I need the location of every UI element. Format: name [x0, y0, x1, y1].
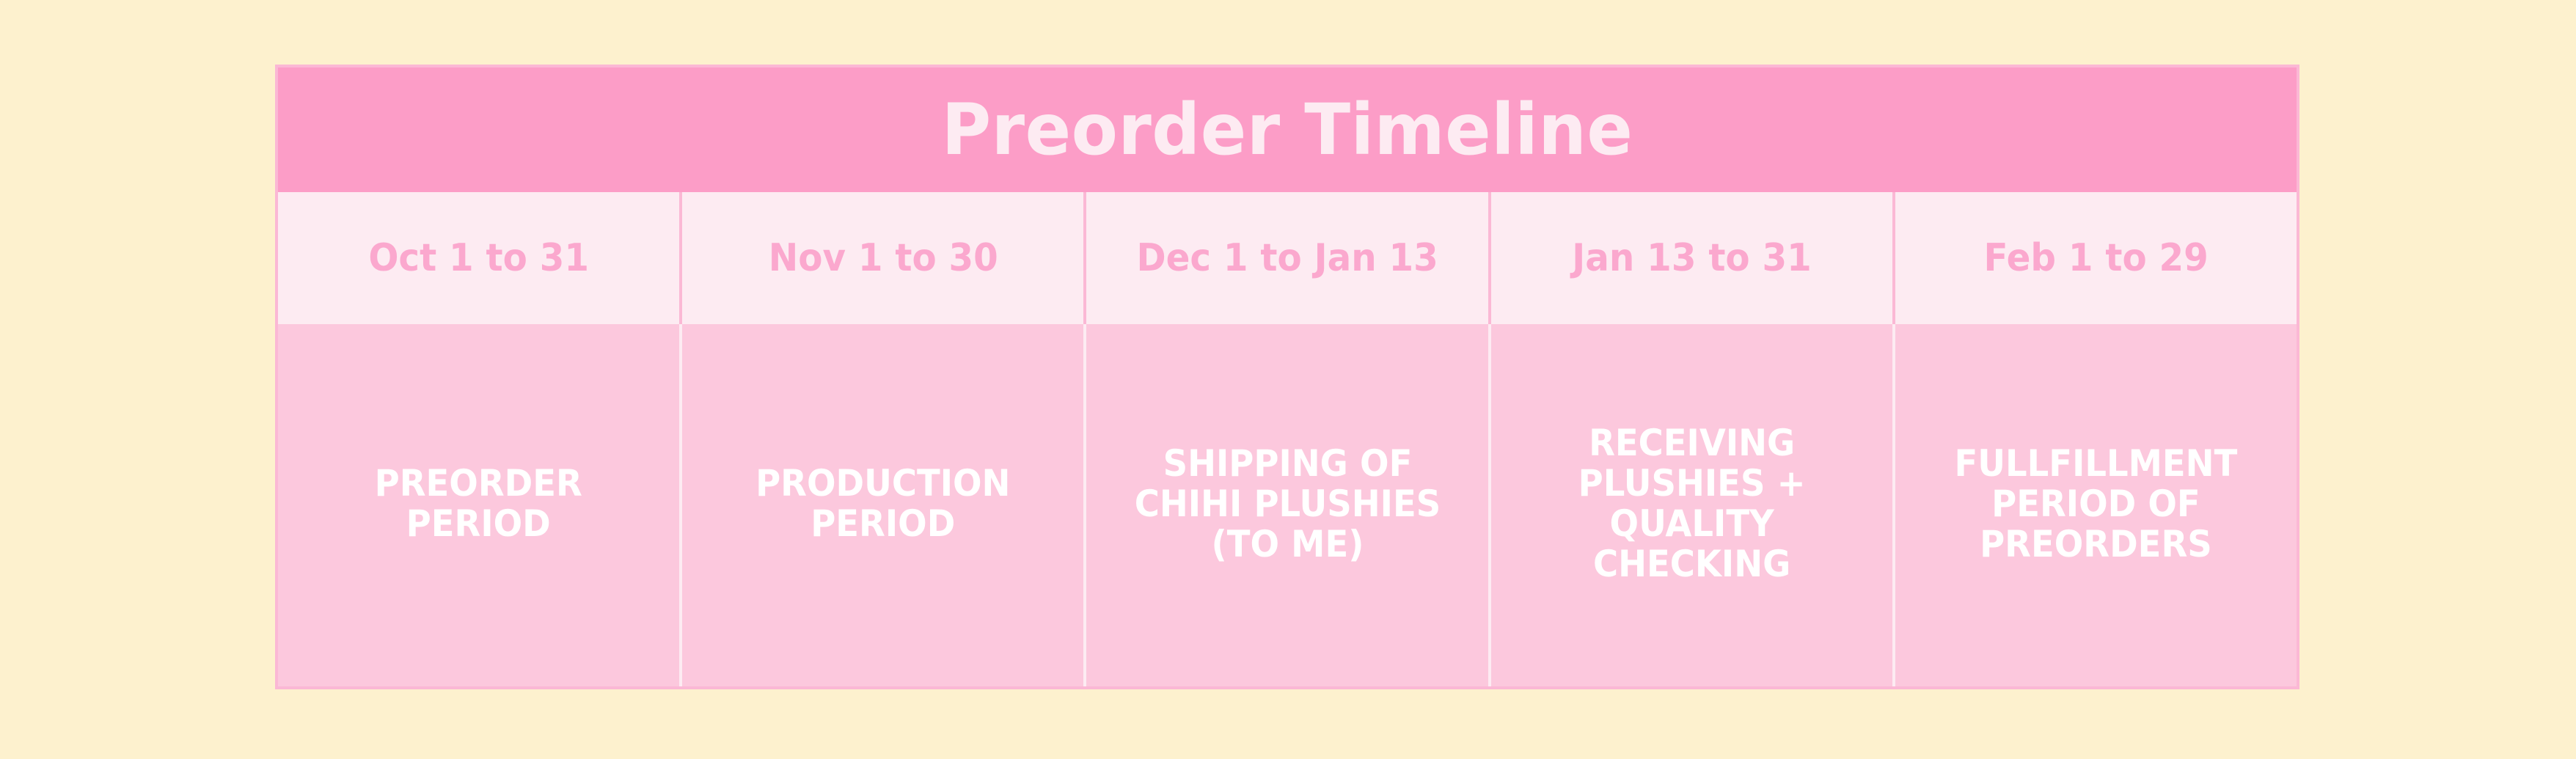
date-cell-3: Dec 1 to Jan 13	[1086, 192, 1490, 324]
page-title: Preorder Timeline	[942, 95, 1633, 165]
preorder-timeline-table: Preorder Timeline Oct 1 to 31 Nov 1 to 3…	[275, 65, 2299, 689]
date-header-row: Oct 1 to 31 Nov 1 to 30 Dec 1 to Jan 13 …	[278, 192, 2297, 324]
phase-cell-1: PREORDER PERIOD	[278, 324, 682, 686]
date-cell-4: Jan 13 to 31	[1491, 192, 1895, 324]
date-cell-2: Nov 1 to 30	[682, 192, 1086, 324]
date-label-3: Dec 1 to Jan 13	[1136, 239, 1438, 277]
date-cell-5: Feb 1 to 29	[1895, 192, 2297, 324]
phase-cell-2: PRODUCTION PERIOD	[682, 324, 1086, 686]
phase-label-3: SHIPPING OF CHIHI PLUSHIES (TO ME)	[1134, 444, 1441, 565]
phase-cell-5: FULLFILLMENT PERIOD OF PREORDERS	[1895, 324, 2297, 686]
phase-label-1: PREORDER PERIOD	[375, 463, 582, 544]
date-label-5: Feb 1 to 29	[1983, 239, 2208, 277]
table-title-band: Preorder Timeline	[278, 67, 2297, 192]
phase-body-row: PREORDER PERIOD PRODUCTION PERIOD SHIPPI…	[278, 324, 2297, 686]
date-label-4: Jan 13 to 31	[1572, 239, 1812, 277]
phase-label-5: FULLFILLMENT PERIOD OF PREORDERS	[1955, 444, 2238, 565]
date-label-1: Oct 1 to 31	[368, 239, 589, 277]
phase-cell-4: RECEIVING PLUSHIES + QUALITY CHECKING	[1491, 324, 1895, 686]
phase-label-4: RECEIVING PLUSHIES + QUALITY CHECKING	[1578, 423, 1805, 584]
phase-cell-3: SHIPPING OF CHIHI PLUSHIES (TO ME)	[1086, 324, 1490, 686]
date-cell-1: Oct 1 to 31	[278, 192, 682, 324]
date-label-2: Nov 1 to 30	[768, 239, 998, 277]
page-canvas: Preorder Timeline Oct 1 to 31 Nov 1 to 3…	[0, 0, 2576, 759]
phase-label-2: PRODUCTION PERIOD	[755, 463, 1010, 544]
